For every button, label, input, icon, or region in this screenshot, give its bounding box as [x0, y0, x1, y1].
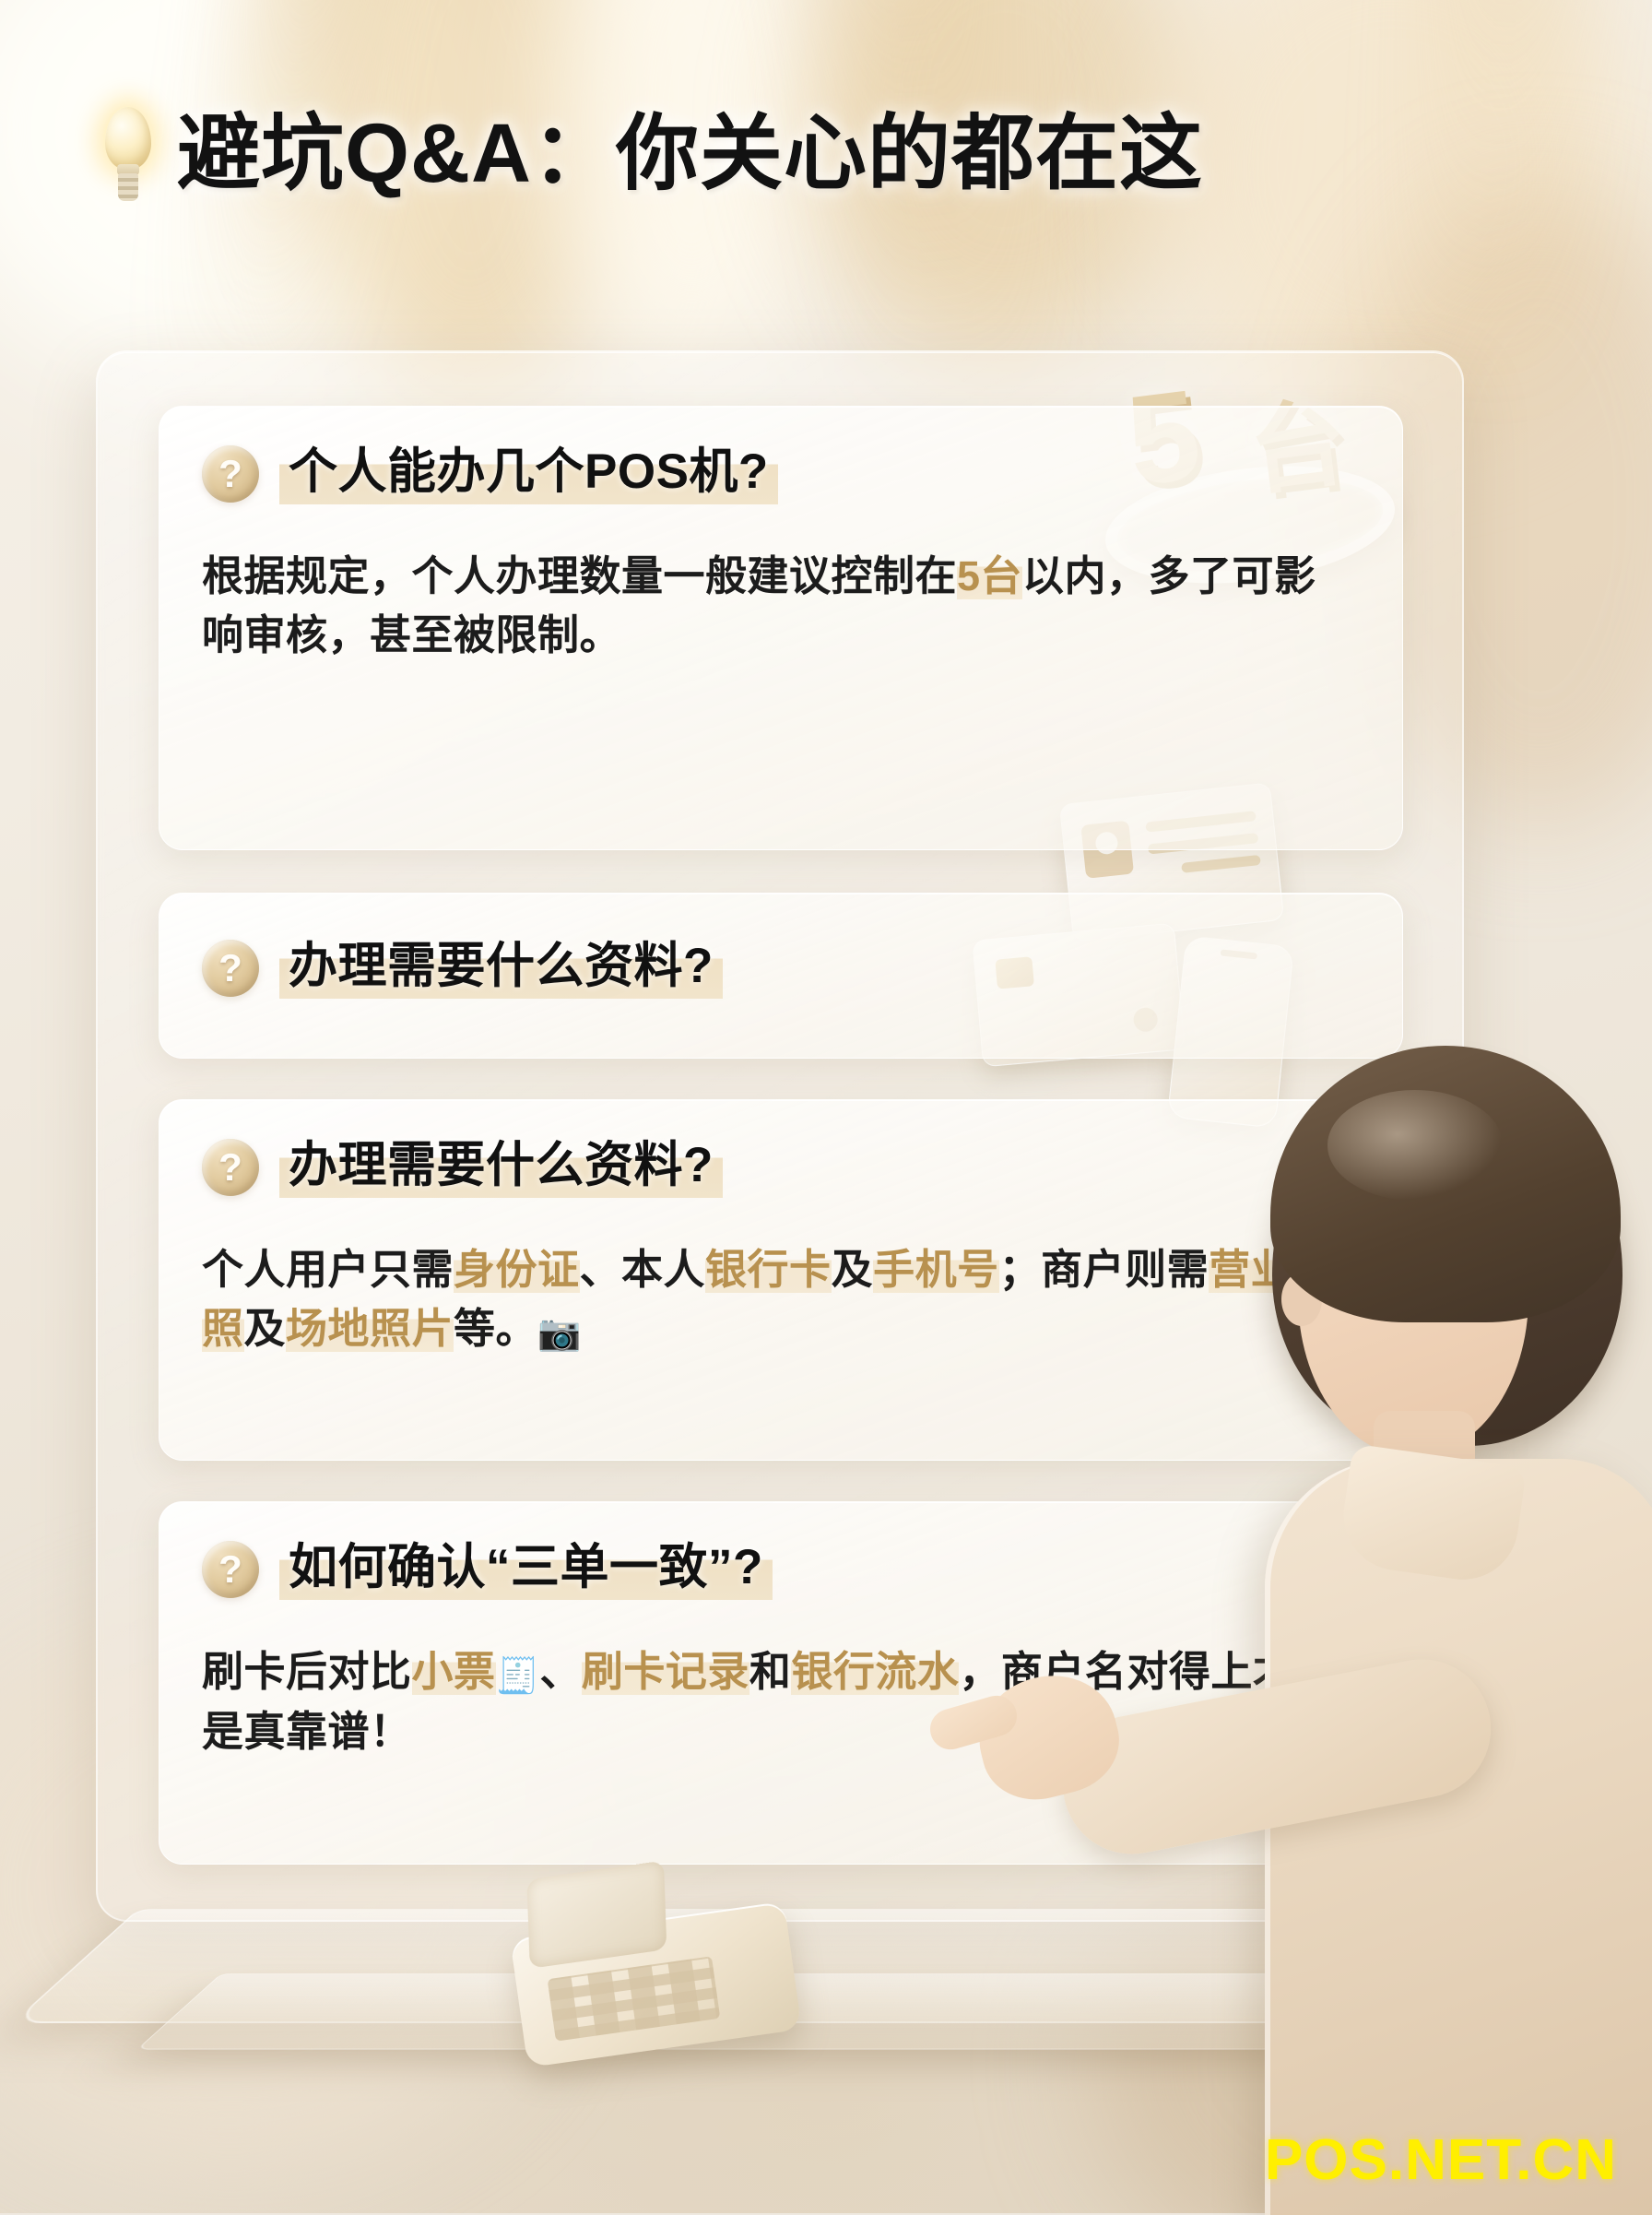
answer-highlight: 银行流水: [791, 1648, 959, 1695]
answer-segment: 根据规定，个人办理数量一般建议控制在: [202, 552, 957, 599]
lightbulb-icon: [100, 107, 157, 203]
page-title: 避坑Q&A：你关心的都在这: [177, 113, 1203, 197]
faq-card[interactable]: ? 办理需要什么资料?: [159, 893, 1403, 1059]
answer-segment: 等。: [454, 1305, 537, 1352]
faq-question-row: ? 个人能办几个POS机?: [202, 444, 778, 504]
answer-segment: 、本人: [580, 1246, 706, 1293]
id-line: [1181, 855, 1261, 873]
question-mark-icon: ?: [202, 445, 259, 503]
camera-icon: 📷: [537, 1314, 582, 1353]
answer-highlight: 场地照片: [286, 1305, 454, 1352]
answer-segment: ；商户则需: [999, 1246, 1209, 1293]
poster-header: 避坑Q&A：你关心的都在这: [100, 100, 1187, 210]
answer-highlight: 5台: [957, 552, 1022, 599]
answer-segment: 、: [539, 1648, 582, 1695]
lightbulb-glass: [105, 107, 151, 170]
lightbulb-base: [118, 173, 138, 201]
question-mark-glyph: ?: [202, 445, 259, 503]
answer-segment: 个人用户只需: [202, 1246, 454, 1293]
question-mark-icon: ?: [202, 940, 259, 997]
question-mark-icon: ?: [202, 1139, 259, 1196]
answer-highlight: 手机号: [873, 1246, 999, 1293]
faq-question-text: 办理需要什么资料?: [279, 1137, 723, 1198]
woman-3d-character: [1217, 1042, 1652, 2213]
faq-question-row: ? 办理需要什么资料?: [202, 938, 723, 999]
watermark: POS.NET.CN: [1265, 2127, 1617, 2193]
faq-question-text: 个人能办几个POS机?: [279, 444, 778, 504]
answer-highlight: 银行卡: [705, 1246, 832, 1293]
faq-answer-text: 个人用户只需身份证、本人银行卡及手机号；商户则需营业执照及场地照片等。📷: [202, 1240, 1345, 1359]
faq-question-text: 办理需要什么资料?: [279, 938, 723, 999]
answer-highlight: 小票: [412, 1648, 496, 1695]
faq-question-text: 如何确认“三单一致”?: [279, 1539, 773, 1600]
faq-question-row: ? 如何确认“三单一致”?: [202, 1539, 773, 1600]
answer-segment: 刷卡后对比: [202, 1648, 412, 1695]
answer-segment: 和: [749, 1648, 792, 1695]
answer-segment: 及: [832, 1246, 874, 1293]
faq-question-row: ? 办理需要什么资料?: [202, 1137, 723, 1198]
answer-highlight: 刷卡记录: [582, 1648, 749, 1695]
question-mark-glyph: ?: [202, 940, 259, 997]
faq-card[interactable]: ? 个人能办几个POS机? 根据规定，个人办理数量一般建议控制在5台以内，多了可…: [159, 406, 1403, 850]
answer-segment: 及: [244, 1305, 287, 1352]
faq-answer-text: 根据规定，个人办理数量一般建议控制在5台以内，多了可影响审核，甚至被限制。: [202, 547, 1336, 665]
question-mark-glyph: ?: [202, 1139, 259, 1196]
question-mark-glyph: ?: [202, 1541, 259, 1598]
question-mark-icon: ?: [202, 1541, 259, 1598]
answer-highlight: 身份证: [454, 1246, 580, 1293]
receipt-icon: 🧾: [496, 1657, 540, 1696]
character-hair-shine: [1327, 1090, 1503, 1201]
